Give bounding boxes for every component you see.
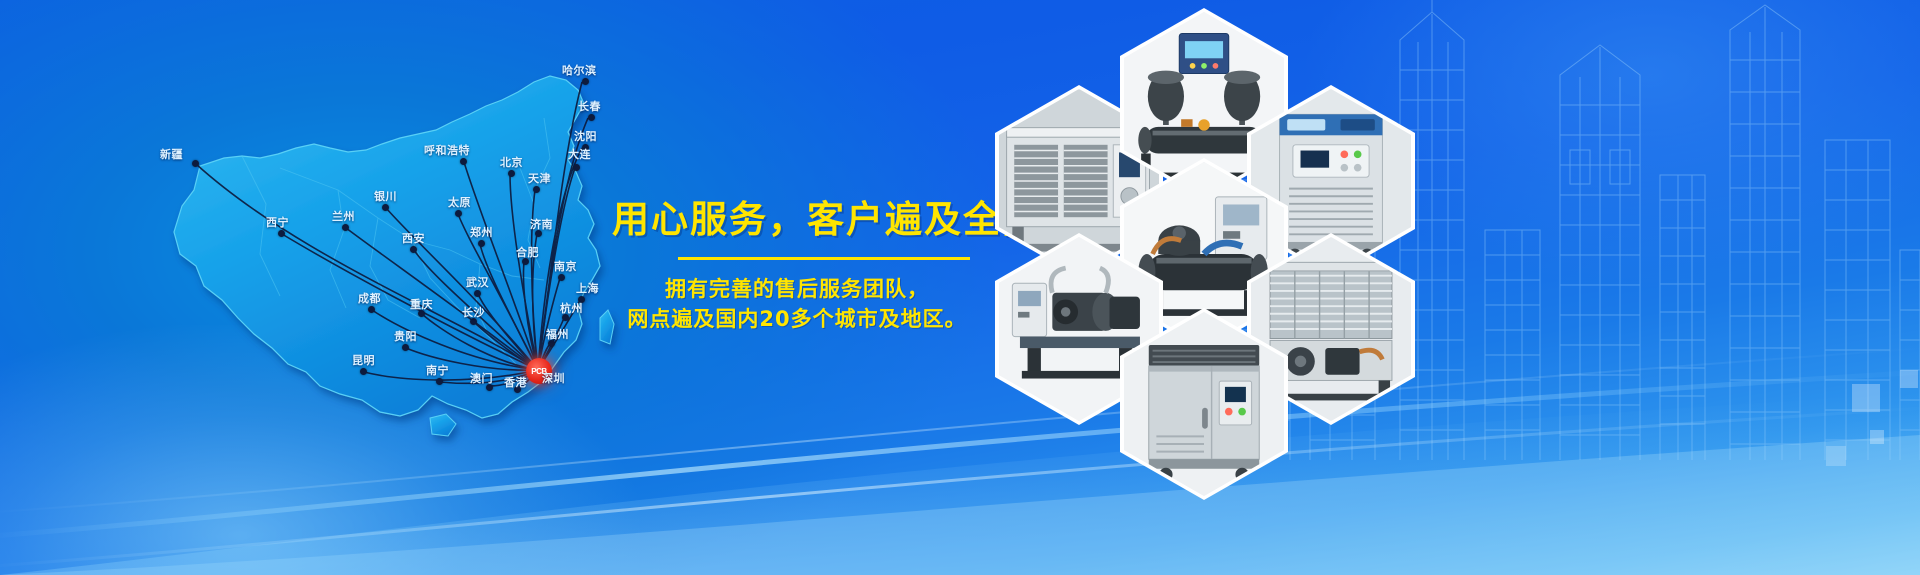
- decor-square: [1870, 430, 1884, 444]
- city-label-zhengzhou: 郑州: [470, 224, 493, 240]
- banner-headline: 用心服务，客户遍及全国: [612, 200, 982, 241]
- city-label-shenyang: 沈阳: [574, 128, 597, 144]
- city-dot: [192, 160, 199, 167]
- decor-square: [1826, 446, 1846, 466]
- city-dot: [460, 158, 467, 165]
- city-dot: [474, 290, 481, 297]
- city-label-wuhan: 武汉: [466, 274, 489, 290]
- city-dot: [582, 78, 589, 85]
- city-label-haerbin: 哈尔滨: [562, 62, 597, 78]
- city-label-hefei: 合肥: [516, 244, 539, 260]
- city-label-chengdu: 成都: [358, 290, 381, 306]
- city-label-jinan: 济南: [530, 216, 553, 232]
- city-dot: [455, 210, 462, 217]
- decor-square: [1900, 370, 1918, 388]
- city-label-lanzhou: 兰州: [332, 208, 355, 224]
- city-label-aomen: 澳门: [470, 370, 493, 386]
- city-label-changsha: 长沙: [462, 304, 485, 320]
- banner-subtitle-line-1: 拥有完善的售后服务团队，: [612, 274, 982, 304]
- city-label-changchun: 长春: [578, 98, 601, 114]
- city-label-guiyang: 贵阳: [394, 328, 417, 344]
- city-dot: [360, 368, 367, 375]
- city-dot: [558, 274, 565, 281]
- city-label-xian: 西安: [402, 230, 425, 246]
- city-dot: [478, 240, 485, 247]
- city-label-xining: 西宁: [266, 214, 289, 230]
- city-dot: [342, 224, 349, 231]
- city-label-chongqing: 重庆: [410, 296, 433, 312]
- city-label-huhehaote: 呼和浩特: [424, 142, 470, 158]
- city-label-tianjin: 天津: [528, 170, 551, 186]
- city-dot: [588, 114, 595, 121]
- city-label-dalian: 大连: [568, 146, 591, 162]
- city-dot: [368, 306, 375, 313]
- city-dot: [533, 186, 540, 193]
- product-photo-hex-grid: [955, 0, 1515, 575]
- city-dot: [402, 344, 409, 351]
- banner-text-block: 用心服务，客户遍及全国 拥有完善的售后服务团队， 网点遍及国内20多个城市及地区…: [612, 200, 982, 335]
- city-label-taiyuan: 太原: [448, 194, 471, 210]
- banner-subtitle-line-2: 网点遍及国内20多个城市及地区。: [612, 304, 982, 334]
- city-dot: [573, 164, 580, 171]
- city-label-fuzhou: 福州: [546, 326, 569, 342]
- city-dot: [278, 230, 285, 237]
- city-label-beijing: 北京: [500, 154, 523, 170]
- city-label-yinchuan: 银川: [374, 188, 397, 204]
- promo-banner: PCB 新疆 哈尔滨 长春 沈阳 呼和浩特 北京 大连 天津 银川 太原 济南 …: [0, 0, 1920, 575]
- city-label-xinjiang: 新疆: [160, 146, 183, 162]
- city-label-shanghai: 上海: [576, 280, 599, 296]
- city-dot: [382, 204, 389, 211]
- headline-divider: [678, 257, 970, 260]
- city-label-nanning: 南宁: [426, 362, 449, 378]
- city-label-shenzhen: 深圳: [542, 370, 565, 386]
- city-label-nanjing: 南京: [554, 258, 577, 274]
- city-dot: [410, 246, 417, 253]
- decor-square: [1852, 384, 1880, 412]
- city-label-kunming: 昆明: [352, 352, 375, 368]
- city-label-hangzhou: 杭州: [560, 300, 583, 316]
- city-dot: [436, 378, 443, 385]
- city-label-xianggang: 香港: [504, 374, 527, 390]
- city-dot: [508, 170, 515, 177]
